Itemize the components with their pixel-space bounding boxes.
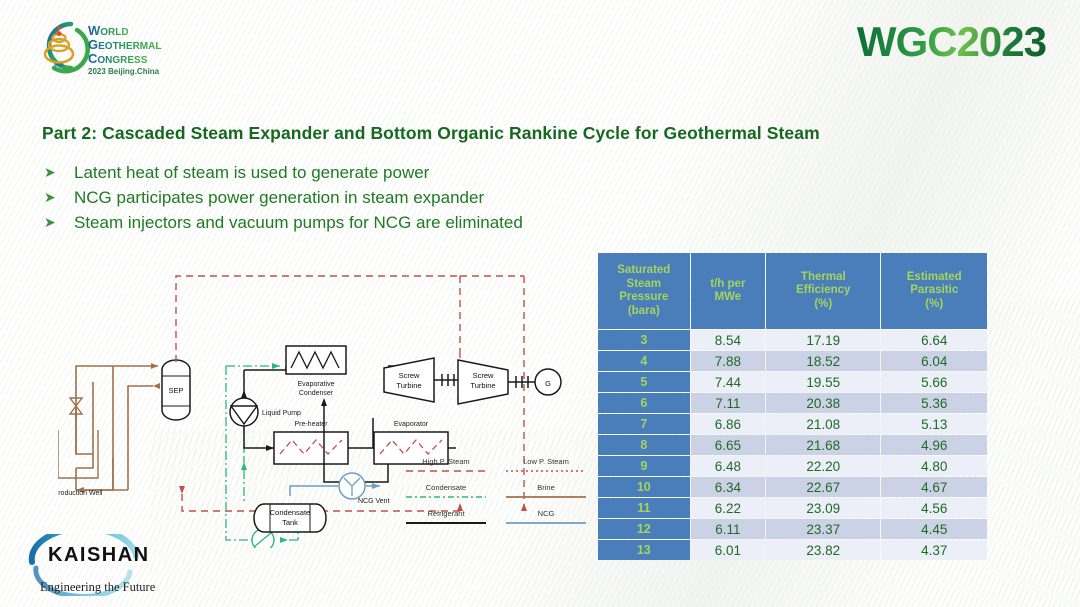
cell-value: 23.82 bbox=[766, 540, 880, 560]
legend-label-2: Condensate bbox=[426, 483, 466, 492]
cell-value: 17.19 bbox=[766, 330, 880, 350]
cell-value: 22.20 bbox=[766, 456, 880, 476]
cell-value: 7.11 bbox=[691, 393, 766, 413]
svg-text:wgc: wgc bbox=[53, 63, 64, 69]
shaft-2 bbox=[508, 376, 536, 388]
arrow-head bbox=[266, 445, 274, 451]
table-row: 126.1123.374.45 bbox=[598, 519, 987, 539]
preheater-box bbox=[274, 432, 348, 464]
legend-label-3: Brine bbox=[537, 483, 555, 492]
ncg-line bbox=[290, 486, 380, 496]
cell-value: 23.09 bbox=[766, 498, 880, 518]
arrow-head bbox=[241, 462, 247, 470]
label-screw-turbine-2b: Turbine bbox=[470, 381, 495, 390]
bullet-list: ➤ Latent heat of steam is used to genera… bbox=[44, 160, 523, 235]
logo-subtitle: 2023 Beijing.China bbox=[88, 67, 160, 76]
bullet-text: Steam injectors and vacuum pumps for NCG… bbox=[74, 210, 523, 235]
table-row: 96.4822.204.80 bbox=[598, 456, 987, 476]
company-name: KAISHAN bbox=[48, 544, 150, 567]
arrow-head bbox=[372, 483, 380, 489]
cell-pressure: 7 bbox=[598, 414, 690, 434]
table-row: 116.2223.094.56 bbox=[598, 498, 987, 518]
results-table: Saturated Steam Pressure (bara) t/h per … bbox=[597, 252, 988, 561]
arrow-bullet-icon: ➤ bbox=[44, 185, 74, 210]
cell-value: 6.11 bbox=[691, 519, 766, 539]
cell-value: 4.45 bbox=[881, 519, 987, 539]
table-row: 76.8621.085.13 bbox=[598, 414, 987, 434]
label-liquid-pump: Liquid Pump bbox=[262, 410, 301, 417]
arrow-bullet-icon: ➤ bbox=[44, 160, 74, 185]
list-item: ➤ Latent heat of steam is used to genera… bbox=[44, 160, 523, 185]
table-row: 86.6521.684.96 bbox=[598, 435, 987, 455]
cell-pressure: 11 bbox=[598, 498, 690, 518]
arrow-head bbox=[272, 363, 280, 369]
brand-title: WGC2023 bbox=[857, 18, 1046, 66]
brine-line bbox=[76, 366, 158, 490]
cell-value: 5.13 bbox=[881, 414, 987, 434]
arrow-head bbox=[179, 486, 185, 494]
cell-value: 22.67 bbox=[766, 477, 880, 497]
cell-pressure: 3 bbox=[598, 330, 690, 350]
cell-value: 20.38 bbox=[766, 393, 880, 413]
arrow-head bbox=[151, 363, 158, 369]
cell-value: 18.52 bbox=[766, 351, 880, 371]
logo-line-1: WORLD bbox=[88, 23, 129, 38]
cell-value: 7.88 bbox=[691, 351, 766, 371]
label-evaporative-condenser-2: Condenser bbox=[299, 390, 334, 397]
wgc-congress-logo: wgc WORLD GEOTHERMAL CONGRESS 2023 Beiji… bbox=[28, 14, 176, 80]
cell-value: 6.48 bbox=[691, 456, 766, 476]
legend-label-4: Refrigerant bbox=[427, 509, 465, 518]
column-header-pressure: Saturated Steam Pressure (bara) bbox=[598, 253, 690, 329]
company-tagline: Engineering the Future bbox=[40, 580, 155, 595]
cell-value: 21.68 bbox=[766, 435, 880, 455]
kaishan-logo: KAISHAN Engineering the Future bbox=[18, 534, 186, 596]
cell-value: 5.36 bbox=[881, 393, 987, 413]
logo-line-2: GEOTHERMAL bbox=[88, 37, 161, 52]
legend-label-5: NCG bbox=[538, 509, 555, 518]
wgc-ring-mark: wgc bbox=[45, 24, 88, 71]
logo-line-3: CONGRESS bbox=[88, 51, 148, 66]
table-row: 136.0123.824.37 bbox=[598, 540, 987, 560]
list-item: ➤ NCG participates power generation in s… bbox=[44, 185, 523, 210]
cell-pressure: 9 bbox=[598, 456, 690, 476]
label-preheater: Pre-heater bbox=[294, 421, 328, 428]
cell-value: 5.66 bbox=[881, 372, 987, 392]
label-separator: SEP bbox=[168, 386, 183, 395]
screw-turbine-1-symbol bbox=[384, 358, 434, 402]
arrow-head bbox=[153, 383, 160, 389]
list-item: ➤ Steam injectors and vacuum pumps for N… bbox=[44, 210, 523, 235]
page-title: Part 2: Cascaded Steam Expander and Bott… bbox=[42, 123, 820, 144]
label-ncg-vent: NCG Vent bbox=[358, 498, 390, 505]
column-header-estimated-parasitic: Estimated Parasitic (%) bbox=[881, 253, 987, 329]
cell-value: 6.01 bbox=[691, 540, 766, 560]
table-row: 57.4419.555.66 bbox=[598, 372, 987, 392]
cell-pressure: 4 bbox=[598, 351, 690, 371]
label-condensate-tank-2: Tank bbox=[282, 518, 298, 527]
cell-value: 23.37 bbox=[766, 519, 880, 539]
column-header-th-per-mwe: t/h per MWe bbox=[691, 253, 766, 329]
table-body: 38.5417.196.6447.8818.526.0457.4419.555.… bbox=[598, 330, 987, 560]
label-generator-2: G bbox=[545, 379, 551, 388]
table-row: 106.3422.674.67 bbox=[598, 477, 987, 497]
process-flow-diagram: Production Well SEP bbox=[58, 258, 598, 548]
arrow-head bbox=[280, 537, 288, 543]
arrow-head bbox=[241, 390, 247, 398]
cell-value: 4.67 bbox=[881, 477, 987, 497]
label-screw-turbine-2a: Screw bbox=[473, 371, 494, 380]
cell-value: 6.22 bbox=[691, 498, 766, 518]
cell-value: 4.96 bbox=[881, 435, 987, 455]
cell-pressure: 13 bbox=[598, 540, 690, 560]
arrow-head bbox=[321, 398, 327, 406]
arrow-bullet-icon: ➤ bbox=[44, 210, 74, 235]
cell-value: 4.37 bbox=[881, 540, 987, 560]
table-row: 67.1120.385.36 bbox=[598, 393, 987, 413]
cell-value: 7.44 bbox=[691, 372, 766, 392]
cell-pressure: 12 bbox=[598, 519, 690, 539]
cell-pressure: 6 bbox=[598, 393, 690, 413]
arrow-head bbox=[521, 503, 527, 511]
label-evaporator: Evaporator bbox=[394, 421, 429, 428]
cell-value: 21.08 bbox=[766, 414, 880, 434]
cell-value: 6.04 bbox=[881, 351, 987, 371]
table-row: 38.5417.196.64 bbox=[598, 330, 987, 350]
bullet-text: NCG participates power generation in ste… bbox=[74, 185, 484, 210]
table-row: 47.8818.526.04 bbox=[598, 351, 987, 371]
label-evaporative-condenser-1: Evaporative bbox=[298, 381, 335, 388]
cell-pressure: 5 bbox=[598, 372, 690, 392]
cell-value: 19.55 bbox=[766, 372, 880, 392]
cell-pressure: 8 bbox=[598, 435, 690, 455]
column-header-thermal-efficiency: Thermal Efficiency (%) bbox=[766, 253, 880, 329]
cell-value: 4.80 bbox=[881, 456, 987, 476]
diagram-legend: High P. Steam Low P. Steam Condensate Br… bbox=[406, 457, 586, 523]
label-production-well: Production Well bbox=[58, 490, 103, 497]
cell-value: 8.54 bbox=[691, 330, 766, 350]
legend-label-1: Low P. Steam bbox=[523, 457, 569, 466]
bullet-text: Latent heat of steam is used to generate… bbox=[74, 160, 429, 185]
table-header-row: Saturated Steam Pressure (bara) t/h per … bbox=[598, 253, 987, 329]
cell-value: 6.34 bbox=[691, 477, 766, 497]
label-screw-turbine-1b: Turbine bbox=[396, 381, 421, 390]
label-screw-turbine-1a: Screw bbox=[399, 371, 420, 380]
cell-value: 6.64 bbox=[881, 330, 987, 350]
cell-value: 6.86 bbox=[691, 414, 766, 434]
cell-pressure: 10 bbox=[598, 477, 690, 497]
label-condensate-tank-1: Condensate bbox=[270, 508, 310, 517]
cell-value: 4.56 bbox=[881, 498, 987, 518]
legend-label-0: High P. Steam bbox=[422, 457, 469, 466]
cell-value: 6.65 bbox=[691, 435, 766, 455]
